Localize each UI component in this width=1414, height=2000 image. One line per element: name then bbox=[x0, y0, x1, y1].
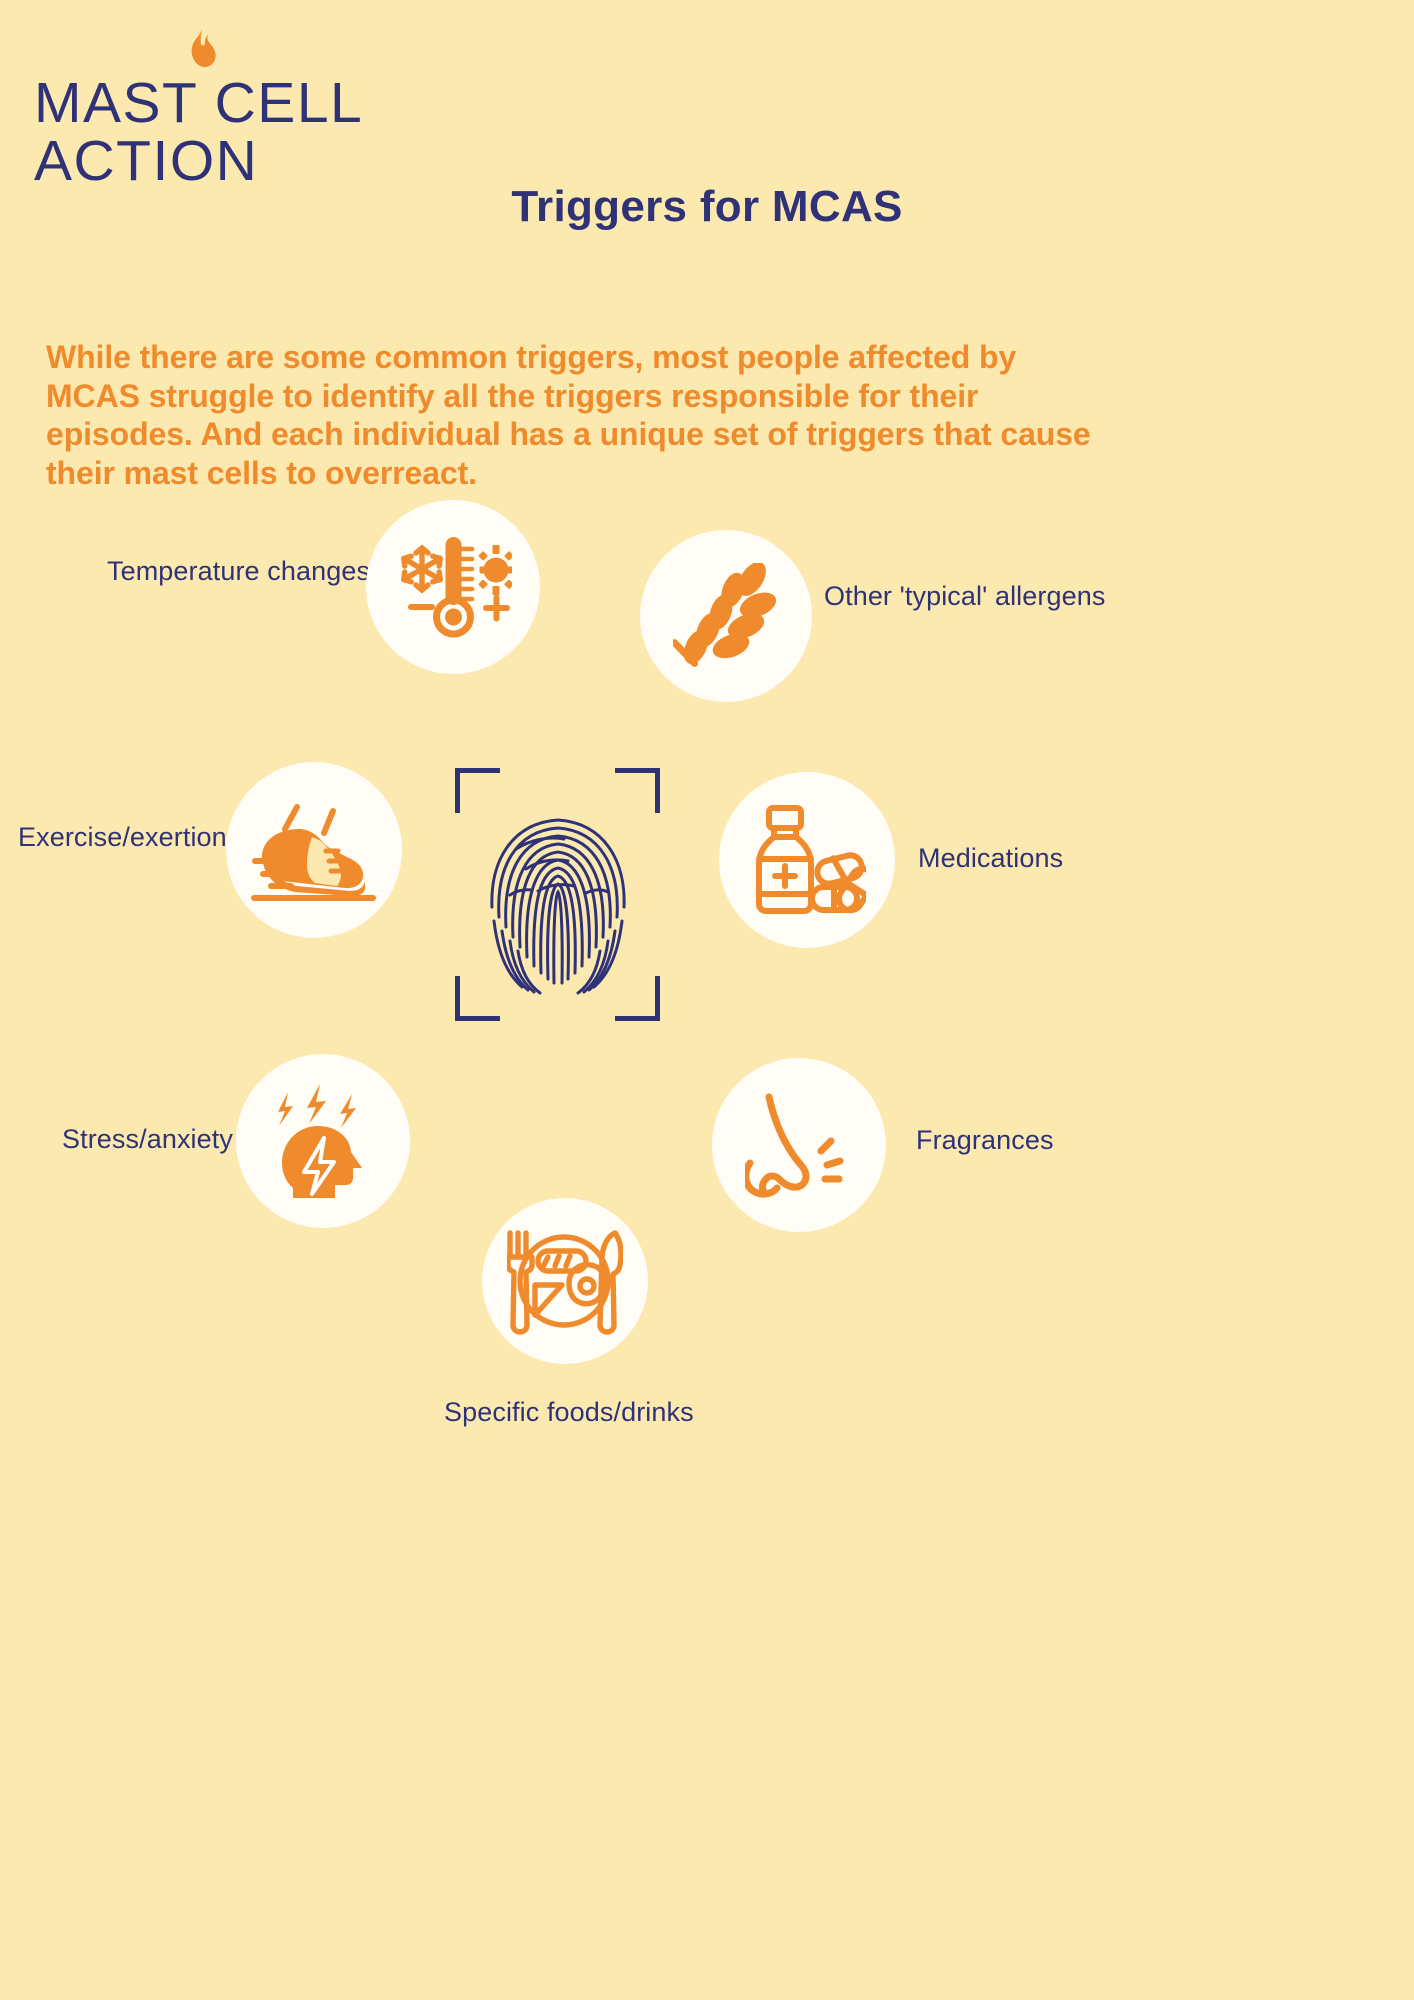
trigger-icon-temperature bbox=[366, 500, 540, 674]
head-lightning-icon bbox=[268, 1082, 378, 1200]
fingerprint-icon bbox=[482, 795, 634, 995]
page-title: Triggers for MCAS bbox=[0, 182, 1414, 232]
trigger-icon-foods bbox=[482, 1198, 648, 1364]
trigger-label-exercise: Exercise/exertion bbox=[18, 822, 208, 853]
nose-scent-icon bbox=[745, 1091, 853, 1199]
logo-wordmark: MAST CELL ACTION bbox=[34, 74, 414, 190]
trigger-icon-allergens bbox=[640, 530, 812, 702]
trigger-label-foods: Specific foods/drinks bbox=[444, 1397, 694, 1428]
trigger-icon-stress bbox=[236, 1054, 410, 1228]
flame-icon bbox=[186, 26, 220, 70]
trigger-icon-fragrances bbox=[712, 1058, 886, 1232]
logo-line-1: MAST CELL bbox=[34, 71, 363, 135]
wheat-stalk-icon bbox=[673, 563, 779, 669]
trigger-label-stress: Stress/anxiety bbox=[62, 1124, 212, 1155]
medicine-bottle-pills-icon bbox=[748, 804, 866, 916]
infographic-poster: MAST CELL ACTION Triggers for MCAS While… bbox=[0, 0, 1414, 2000]
plate-cutlery-icon bbox=[507, 1227, 623, 1335]
fingerprint-frame bbox=[455, 768, 660, 1021]
intro-paragraph: While there are some common triggers, mo… bbox=[46, 338, 1116, 492]
trigger-label-allergens: Other 'typical' allergens bbox=[824, 581, 1105, 612]
trigger-icon-exercise bbox=[226, 762, 402, 938]
trigger-label-temperature: Temperature changes bbox=[107, 556, 349, 587]
thermometer-snowflake-sun-icon bbox=[394, 535, 512, 639]
trigger-icon-medications bbox=[719, 772, 895, 948]
trigger-label-fragrances: Fragrances bbox=[916, 1125, 1054, 1156]
running-shoe-icon bbox=[249, 795, 379, 905]
trigger-label-medications: Medications bbox=[918, 843, 1063, 874]
